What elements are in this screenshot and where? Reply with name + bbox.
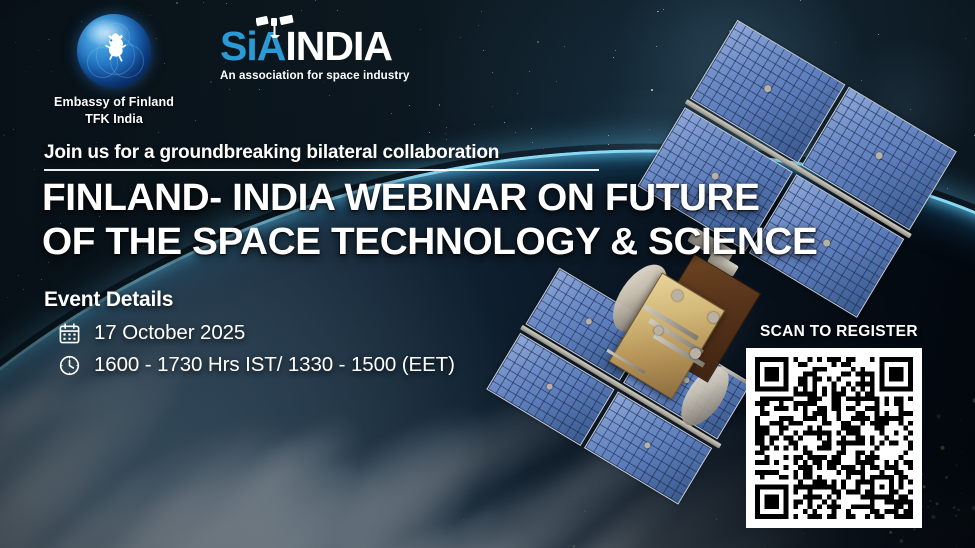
webinar-poster: Embassy of Finland TFK India SiAINDIA An… <box>0 0 975 548</box>
event-date-text: 17 October 2025 <box>94 321 245 345</box>
embassy-label-line1: Embassy of Finland <box>44 94 184 111</box>
kicker-block: Join us for a groundbreaking bilateral c… <box>44 142 599 171</box>
event-date-row: 17 October 2025 <box>58 321 455 345</box>
finland-coat-of-arms-lion-orb-icon <box>77 14 151 88</box>
headline-line2: OF THE SPACE TECHNOLOGY & SCIENCE <box>42 220 817 264</box>
event-details-block: Event Details <box>44 288 455 385</box>
event-time-row: 1600 - 1730 Hrs IST/ 1330 - 1500 (EET) <box>58 353 455 377</box>
heraldic-lion-icon <box>94 28 134 68</box>
embassy-label-line2: TFK India <box>44 111 184 128</box>
satellite-icon <box>256 14 298 38</box>
sia-word-part2: INDIA <box>285 23 392 69</box>
logo-row: Embassy of Finland TFK India SiAINDIA An… <box>44 14 410 127</box>
sia-india-wordmark: SiAINDIA <box>220 28 410 66</box>
clock-icon <box>58 354 81 377</box>
scan-to-register-label: SCAN TO REGISTER <box>760 323 918 341</box>
qr-code-icon[interactable] <box>746 348 922 528</box>
qr-code-canvas[interactable] <box>755 357 913 519</box>
headline-line1: FINLAND- INDIA WEBINAR ON FUTURE <box>42 176 817 220</box>
kicker-underline <box>44 169 599 171</box>
embassy-of-finland-logo: Embassy of Finland TFK India <box>44 14 184 127</box>
event-time-text: 1600 - 1730 Hrs IST/ 1330 - 1500 (EET) <box>94 353 455 377</box>
event-details-title: Event Details <box>44 288 455 312</box>
page-title: FINLAND- INDIA WEBINAR ON FUTURE OF THE … <box>42 176 817 264</box>
poster-content: Embassy of Finland TFK India SiAINDIA An… <box>0 0 975 548</box>
calendar-icon <box>58 322 81 345</box>
sia-tagline: An association for space industry <box>220 69 410 82</box>
sia-india-logo: SiAINDIA An association for space indust… <box>220 14 410 82</box>
kicker-text: Join us for a groundbreaking bilateral c… <box>44 142 599 164</box>
